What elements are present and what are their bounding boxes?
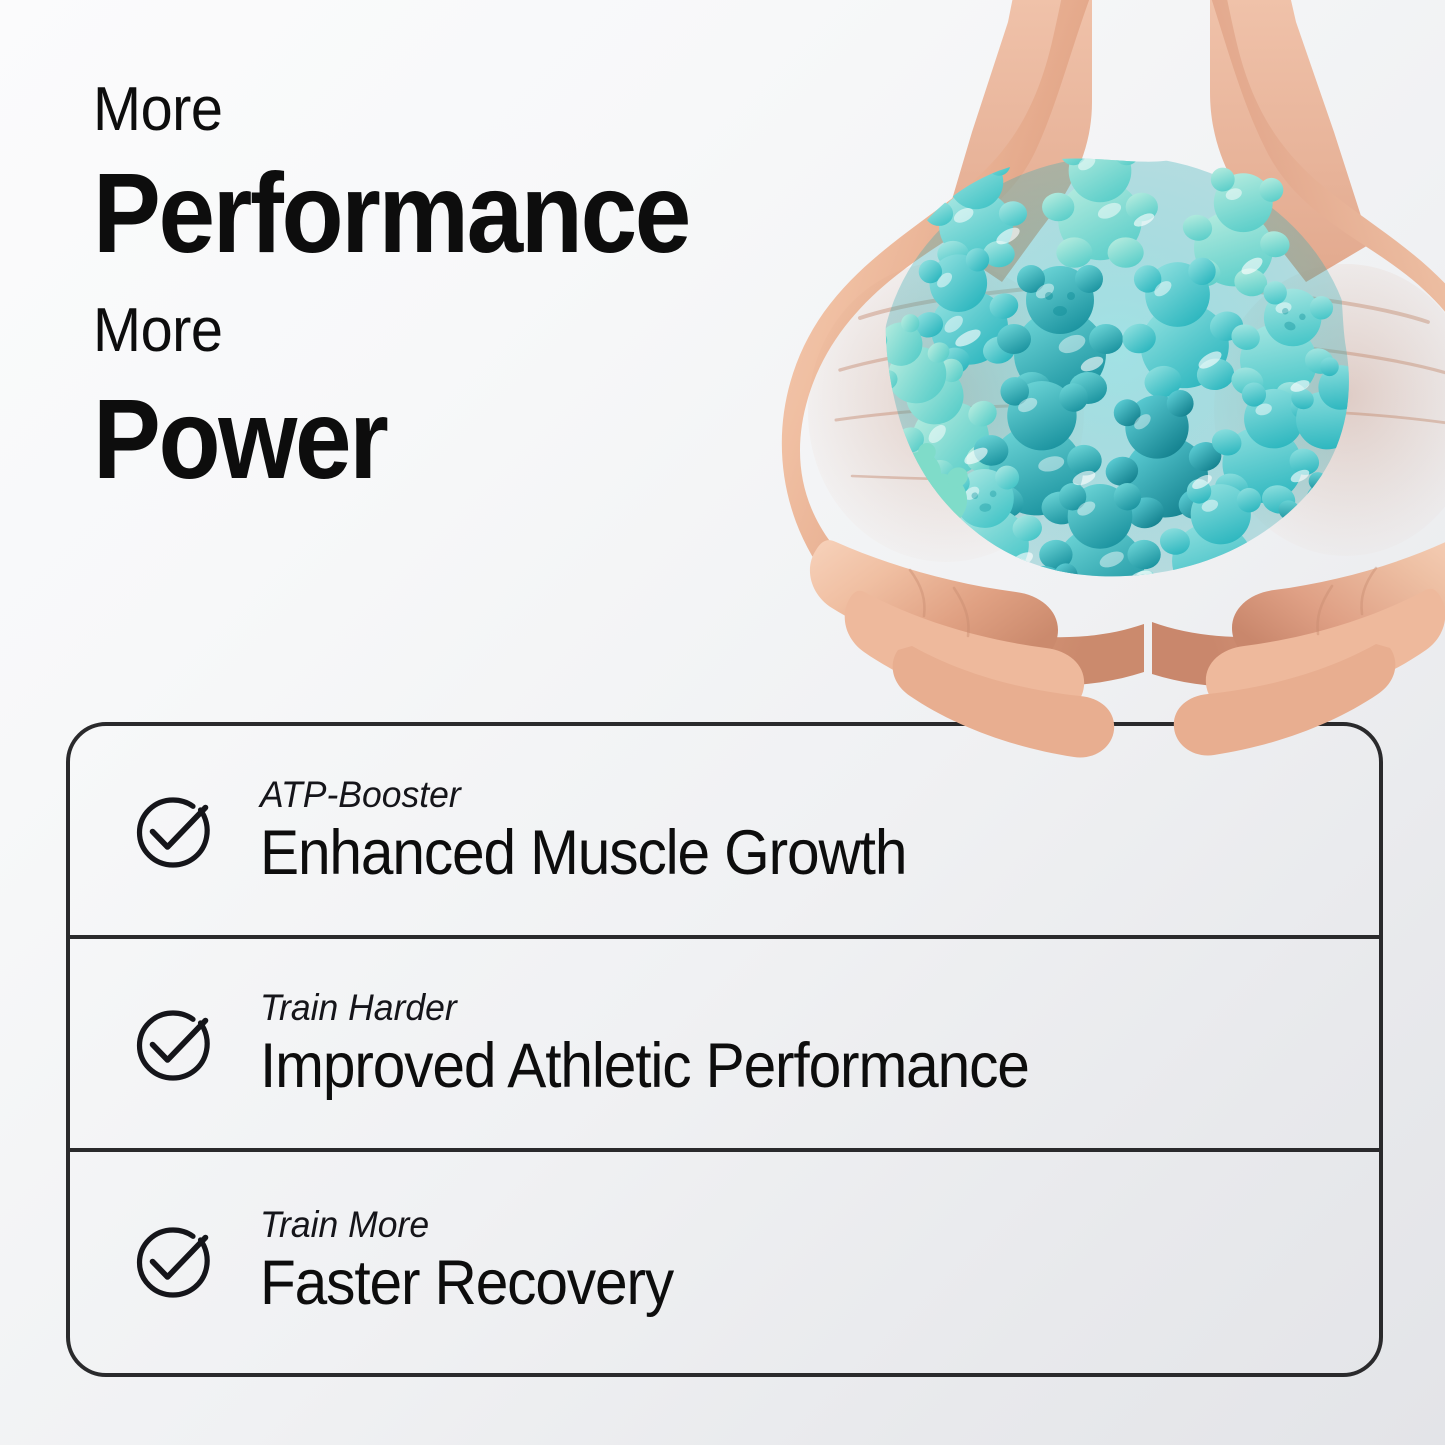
gummy-bear [1039,483,1161,616]
gummy-bear [1069,618,1166,719]
product-hero-banner: More Performance More Power ATP-Booster … [0,0,1445,1445]
headline-line-4: Power [93,381,813,499]
gummy-bear [925,153,1027,267]
benefit-text: Train More Faster Recovery [260,1205,1379,1320]
gummy-bear [1262,463,1374,577]
headline-line-1: More [93,78,837,142]
benefit-title: Faster Recovery [260,1248,1301,1320]
gummy-bear [900,241,1032,381]
benefit-row: ATP-Booster Enhanced Muscle Growth [70,726,1379,939]
gummy-bear [997,265,1123,404]
gummy-bear [1215,273,1352,418]
benefit-row: Train Harder Improved Athletic Performan… [70,939,1379,1152]
gummy-bear-pile [854,139,1388,720]
benefit-eyebrow: ATP-Booster [260,775,1334,815]
benefit-text: Train Harder Improved Athletic Performan… [260,988,1379,1103]
headline-line-3: More [93,299,837,363]
gummy-bear [875,350,1015,497]
gummy-bear [927,463,1048,594]
gummy-bear [1104,566,1221,692]
gummy-bear [1276,349,1388,464]
benefit-eyebrow: Train Harder [260,988,1334,1028]
benefit-row: Train More Faster Recovery [70,1152,1379,1373]
gummy-bear [1199,376,1335,521]
gummy-bear [1094,385,1232,534]
benefit-title: Enhanced Muscle Growth [260,818,1301,890]
gummy-bear [1150,474,1281,615]
check-circle-icon [118,991,228,1101]
benefit-title: Improved Athletic Performance [260,1031,1301,1103]
benefit-eyebrow: Train More [260,1205,1334,1245]
benefit-text: ATP-Booster Enhanced Muscle Growth [260,775,1379,890]
benefits-card: ATP-Booster Enhanced Muscle Growth Train… [66,722,1383,1377]
gummy-bear [1113,253,1252,402]
card-divider [66,1148,1383,1152]
headline-block: More Performance More Power [93,78,893,499]
card-divider [66,935,1383,939]
headline-line-2: Performance [93,155,813,273]
check-circle-icon [118,1208,228,1318]
right-hand [1152,0,1445,755]
gummy-bear [988,561,1102,686]
check-circle-icon [118,778,228,888]
gummy-bear [967,374,1110,528]
gummy-bear [1042,139,1158,268]
gummy-bear [1171,162,1302,302]
